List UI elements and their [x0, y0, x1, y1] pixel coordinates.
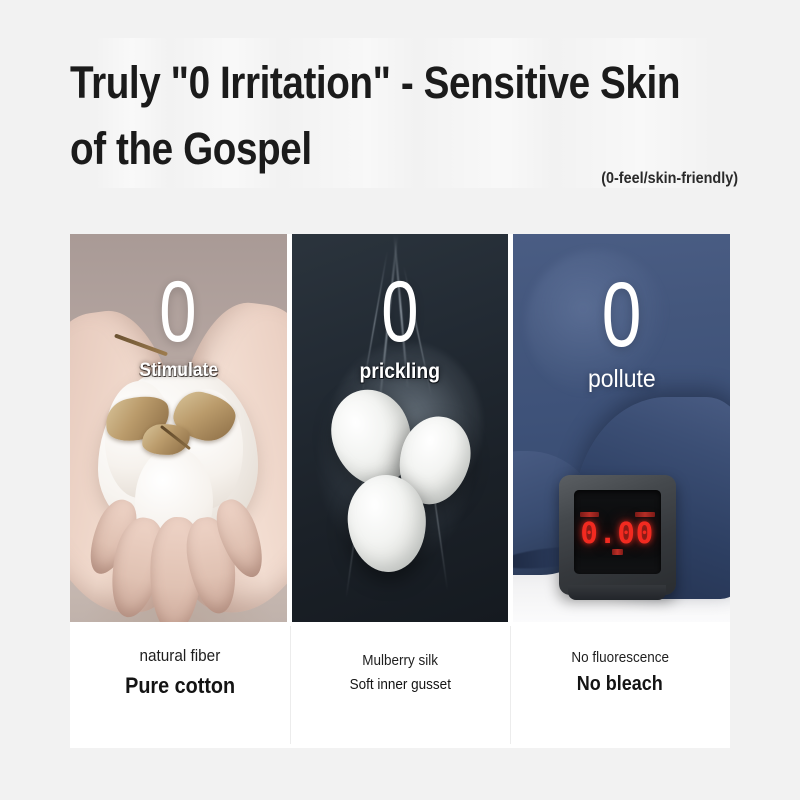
- page-title-line-1: Truly "0 Irritation" - Sensitive Skin: [70, 58, 655, 108]
- caption-top-line: Mulberry silk: [362, 652, 438, 669]
- panel-no-bleach[interactable]: 0.00 0 pollute: [513, 234, 730, 622]
- meter-reading-value: 0.00: [580, 518, 654, 548]
- fabric-sheen-shape: [526, 250, 669, 397]
- meter-indicator-chip: [580, 512, 599, 517]
- page-title: Truly "0 Irritation" - Sensitive Skin of…: [70, 58, 750, 174]
- caption-bottom-line: Pure cotton: [125, 673, 235, 699]
- page-title-line-2: of the Gospel: [70, 124, 655, 174]
- feature-panels: 0 Stimulate 0 prickling: [70, 234, 730, 622]
- caption-top-line: No fluorescence: [571, 649, 669, 666]
- silk-cocoon-photo: [292, 234, 509, 622]
- meter-indicator-chip: [635, 512, 654, 517]
- page-subnote: (0-feel/skin-friendly): [601, 170, 738, 188]
- caption-bottom-line: No bleach: [577, 673, 663, 696]
- caption-no-bleach: No fluorescence No bleach: [510, 622, 730, 748]
- navy-fabric-photo: 0.00: [513, 234, 730, 622]
- formaldehyde-meter[interactable]: 0.00: [559, 475, 676, 595]
- panel-mulberry-silk[interactable]: 0 prickling: [292, 234, 509, 622]
- feature-captions: natural fiber Pure cotton Mulberry silk …: [70, 622, 730, 748]
- meter-base-shape: [568, 585, 666, 599]
- meter-unit-indicator: [612, 549, 623, 555]
- caption-top-line: natural fiber: [140, 646, 221, 666]
- cotton-photo: [70, 234, 287, 622]
- caption-bottom-line: Soft inner gusset: [349, 676, 450, 693]
- caption-pure-cotton: natural fiber Pure cotton: [70, 622, 290, 748]
- caption-mulberry-silk: Mulberry silk Soft inner gusset: [290, 622, 510, 748]
- meter-display-screen: 0.00: [574, 490, 661, 574]
- panel-pure-cotton[interactable]: 0 Stimulate: [70, 234, 287, 622]
- feature-card: 0 Stimulate 0 prickling: [70, 234, 730, 748]
